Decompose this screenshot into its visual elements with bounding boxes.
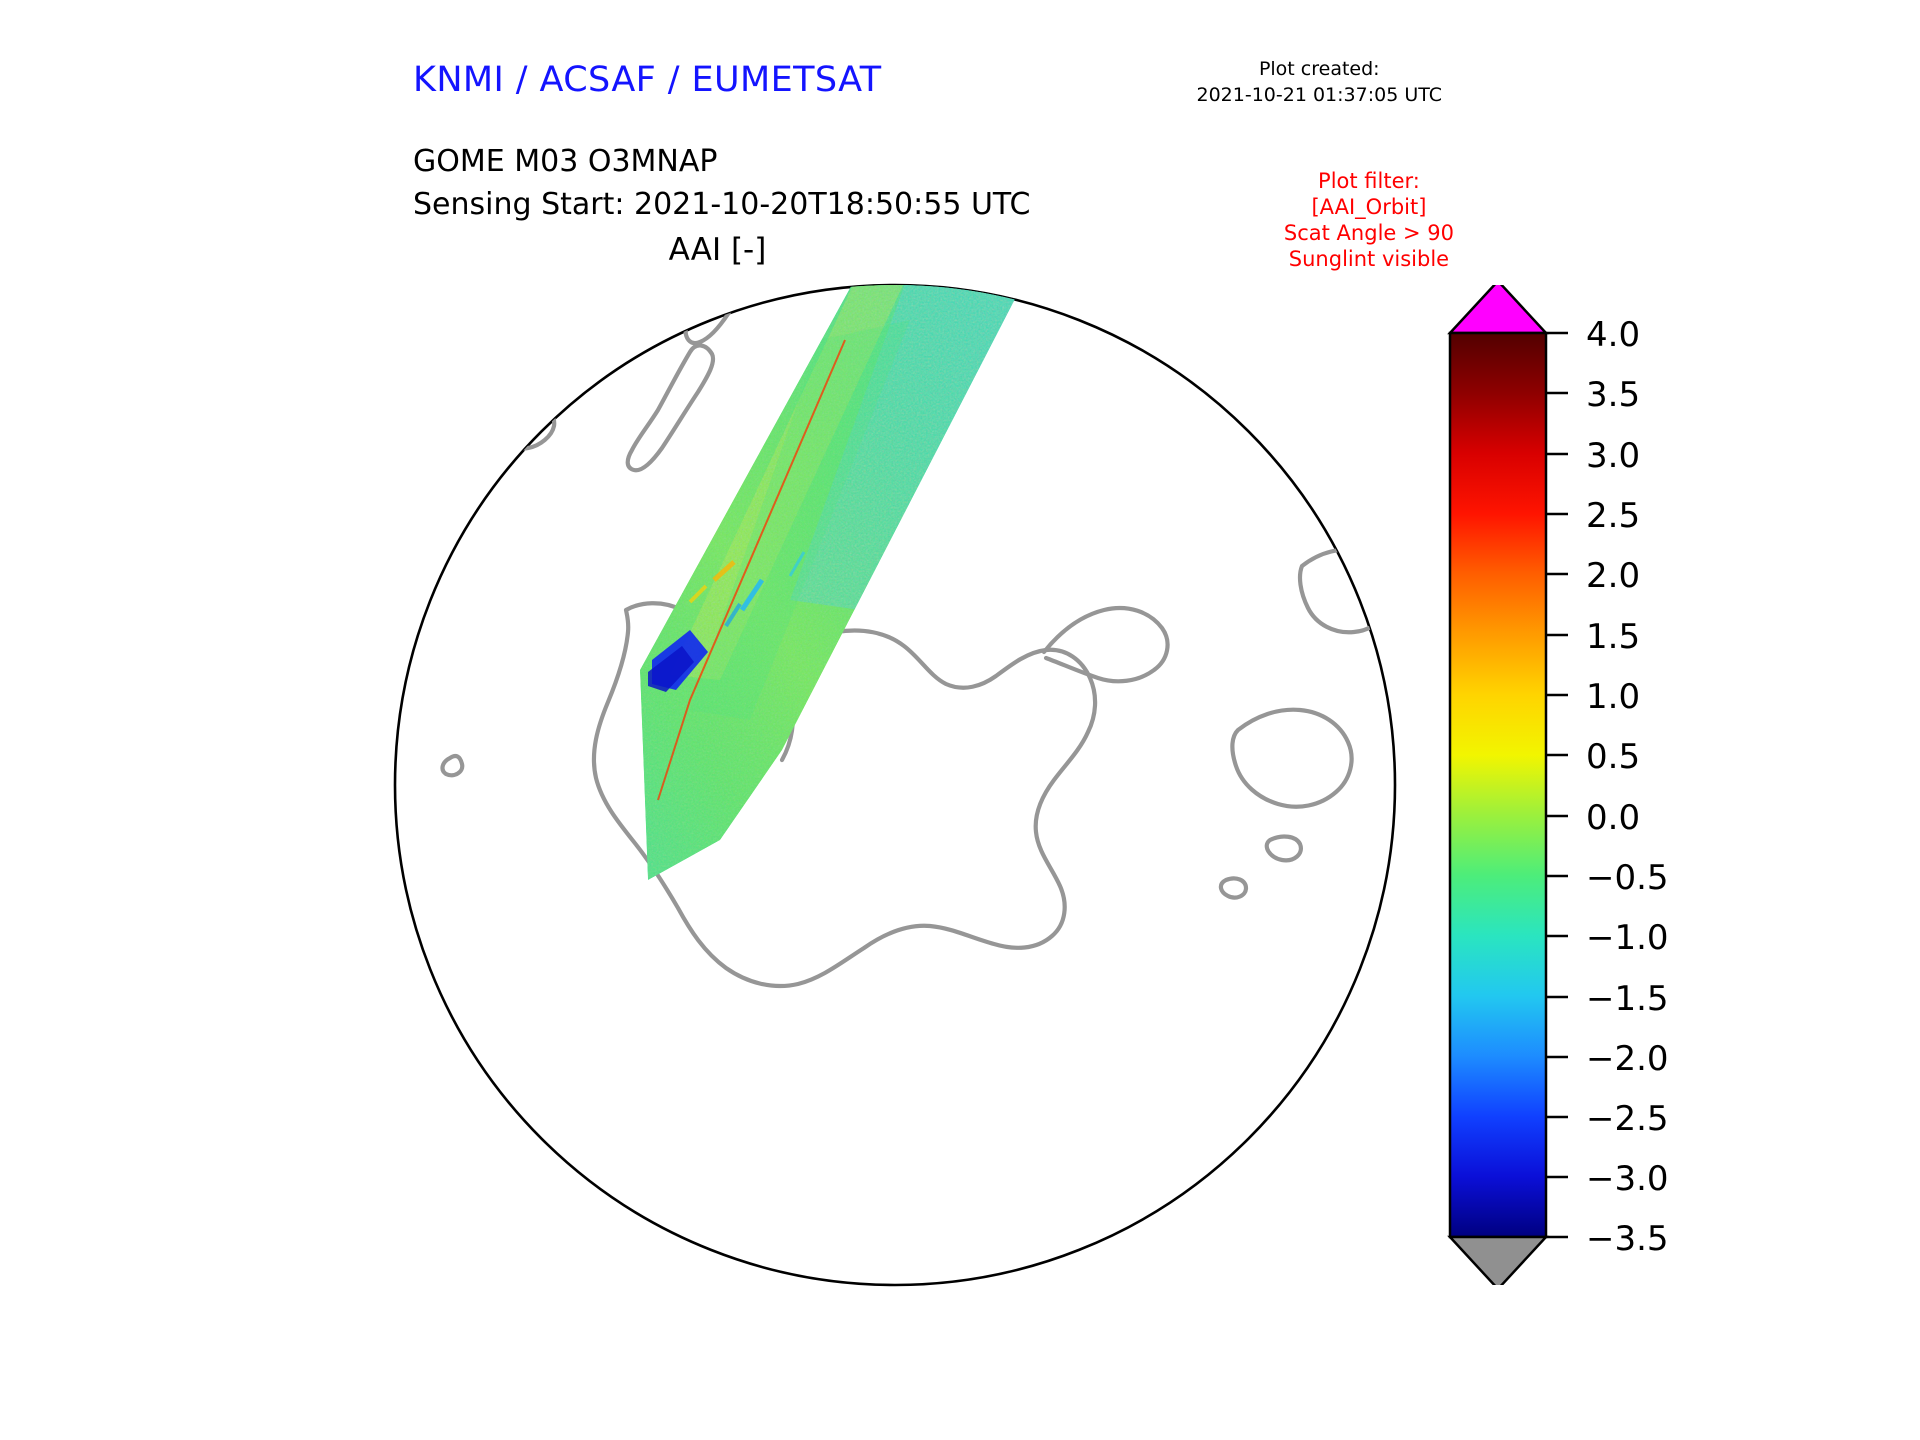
colorbar-gradient [1450,333,1546,1237]
sensing-start: Sensing Start: 2021-10-20T18:50:55 UTC [413,183,1030,226]
page-title: AAI [-] [0,232,1435,268]
colorbar-svg: 4.0 3.5 3.0 2.5 2.0 1.5 1.0 0.5 0.0 −0.5… [1440,285,1760,1285]
colorbar-tick-label: −3.5 [1586,1219,1669,1259]
colorbar-tick-label: 3.0 [1586,436,1640,476]
colorbar-tick-label: 1.0 [1586,677,1640,717]
plot-created-label: Plot created: [1197,56,1443,82]
plot-filter-block: Plot filter: [AAI_Orbit] Scat Angle > 90… [1284,168,1454,272]
colorbar-tick-label: −1.0 [1586,918,1669,958]
organisation-title: KNMI / ACSAF / EUMETSAT [413,60,882,100]
colorbar-tick-label: −3.0 [1586,1159,1669,1199]
colorbar-tick-label: −2.0 [1586,1039,1669,1079]
colorbar-tick-label: 1.5 [1586,617,1640,657]
plot-created-timestamp: 2021-10-21 01:37:05 UTC [1197,82,1443,108]
colorbar-panel: 4.0 3.5 3.0 2.5 2.0 1.5 1.0 0.5 0.0 −0.5… [1440,285,1760,1285]
colorbar-tick-label: 2.0 [1586,556,1640,596]
plot-created-block: Plot created: 2021-10-21 01:37:05 UTC [1197,56,1443,108]
plot-filter-sunglint: Sunglint visible [1284,246,1454,272]
plot-filter-name: [AAI_Orbit] [1284,194,1454,220]
colorbar-ticks [1546,333,1568,1237]
dataset-name: GOME M03 O3MNAP [413,140,1030,183]
colorbar-tick-label: 2.5 [1586,496,1640,536]
plot-page: KNMI / ACSAF / EUMETSAT Plot created: 20… [0,0,1920,1440]
colorbar-tick-labels: 4.0 3.5 3.0 2.5 2.0 1.5 1.0 0.5 0.0 −0.5… [1586,315,1669,1259]
colorbar-tick-label: 3.5 [1586,375,1640,415]
colorbar-tick-label: −2.5 [1586,1099,1669,1139]
plot-filter-scat-angle: Scat Angle > 90 [1284,220,1454,246]
colorbar-tick-label: 4.0 [1586,315,1640,355]
plot-filter-label: Plot filter: [1284,168,1454,194]
map-svg [390,280,1400,1290]
colorbar-under-arrow [1450,1237,1546,1285]
dataset-title-block: GOME M03 O3MNAP Sensing Start: 2021-10-2… [413,140,1030,226]
map-panel [390,280,1400,1290]
colorbar-over-arrow [1450,285,1546,333]
colorbar-tick-label: −1.5 [1586,979,1669,1019]
colorbar-tick-label: −0.5 [1586,858,1669,898]
colorbar-tick-label: 0.5 [1586,737,1640,777]
colorbar-tick-label: 0.0 [1586,798,1640,838]
